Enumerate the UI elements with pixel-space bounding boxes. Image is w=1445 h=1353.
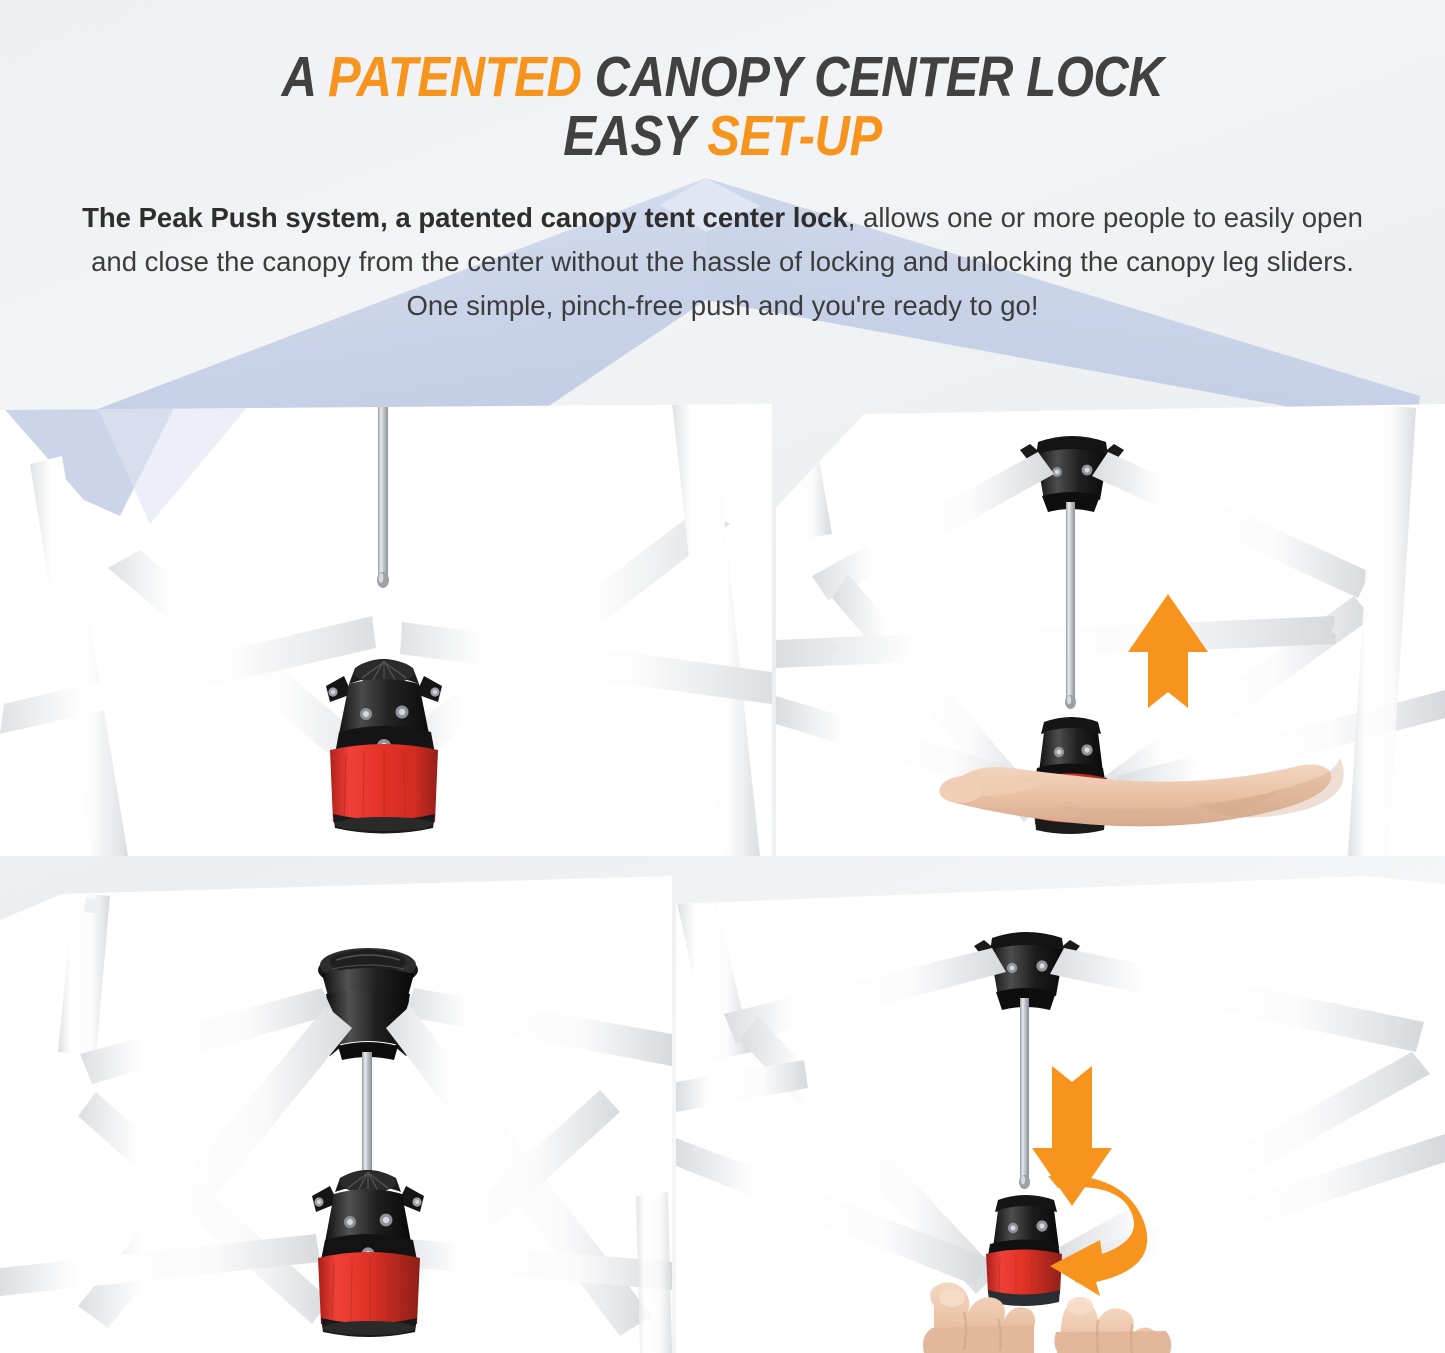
frame-truss-horizontal <box>776 616 1340 668</box>
black-hub-assembly <box>1035 717 1105 780</box>
body-copy: The Peak Push system, a patented canopy … <box>78 196 1368 328</box>
headline: A PATENTED CANOPY CENTER LOCK EASY SET-U… <box>101 48 1344 167</box>
steel-push-rod <box>362 1052 372 1196</box>
frame-truss-horizontal-middle <box>676 1134 1445 1286</box>
red-slider-base <box>318 1252 420 1337</box>
frame-truss-upper-right <box>386 508 730 770</box>
red-slider-base <box>986 1250 1062 1307</box>
red-slider-base <box>1033 774 1107 835</box>
black-peak-fitting <box>1020 436 1124 512</box>
open-palm-hand <box>940 758 1344 826</box>
frame-truss-horizontal-lower <box>776 690 1445 804</box>
frame-leg-pole-right-edge <box>1348 404 1416 856</box>
frame-truss-horizontal-upper <box>676 1054 1445 1112</box>
frame-truss-horizontal-left <box>0 1234 320 1296</box>
canopy-fabric-corner <box>0 404 176 516</box>
panel-bottom-left <box>0 876 672 1353</box>
frame-truss-down-left <box>78 1006 352 1328</box>
frame-truss-upper-right <box>404 988 672 1066</box>
down-arrow-icon <box>1032 1066 1112 1206</box>
headline-line1-part2: CANOPY CENTER LOCK <box>581 45 1163 109</box>
frame-truss-upper-left <box>108 550 392 784</box>
panel-top-right <box>776 404 1445 856</box>
frame-truss-upper-left <box>80 988 334 1084</box>
frame-truss-horizontal-right <box>392 1238 672 1290</box>
headline-line2-part1: EASY <box>563 104 707 168</box>
black-peak-cap <box>318 948 418 1060</box>
frame-leg-pole-left <box>58 892 110 1056</box>
frame-truss-upper-left <box>724 948 1006 1044</box>
frame-truss-lower-right <box>1054 1052 1430 1274</box>
frame-truss-lower-left <box>740 1016 998 1294</box>
frame-leg-pole-right <box>672 404 760 856</box>
two-hands-gripping <box>923 1282 1171 1353</box>
black-peak-fitting <box>974 932 1080 1010</box>
frame-truss-lower-right <box>1094 596 1372 806</box>
frame-truss-upper-right <box>1092 452 1370 598</box>
headline-line1-part1: A <box>282 45 328 109</box>
frame-truss-down-right <box>386 1006 652 1336</box>
frame-leg-pole-left <box>30 456 128 856</box>
frame-truss-horizontal-left <box>0 614 376 734</box>
frame-truss-cross-left <box>78 1092 330 1324</box>
steel-push-rod <box>377 404 389 588</box>
body-lead: The Peak Push system, a patented canopy … <box>82 202 848 233</box>
panel-top-left <box>0 404 772 856</box>
frame-truss-horizontal-right <box>400 622 772 704</box>
panel-bottom-right <box>676 876 1445 1353</box>
frame-leg-pole-right <box>1344 876 1418 1353</box>
up-arrow-icon <box>1128 594 1208 708</box>
frame-leg-pole-left <box>676 898 752 1060</box>
red-slider-base <box>330 744 438 834</box>
frame-truss-lower-left <box>832 574 1044 822</box>
black-hub-assembly <box>326 659 442 754</box>
steel-push-rod <box>1065 502 1076 709</box>
body-closing: One simple, pinch-free push and you're r… <box>78 284 1368 328</box>
frame-truss-upper-left <box>812 452 1054 600</box>
headline-line1-highlight: PATENTED <box>328 45 581 109</box>
black-hub-assembly <box>312 1170 424 1261</box>
frame-leg-pole-far-left <box>776 408 832 540</box>
frame-leg-pole-right <box>636 1192 672 1353</box>
frame-truss-lower-left <box>0 750 330 792</box>
rotate-arrow-icon <box>1048 1175 1147 1296</box>
headline-line2-highlight: SET-UP <box>707 104 881 168</box>
steel-push-rod <box>1019 998 1030 1189</box>
black-hub-assembly <box>988 1195 1060 1256</box>
frame-truss-cross-right <box>372 1090 620 1320</box>
frame-truss-upper-right <box>1050 948 1424 1052</box>
body-paragraph: The Peak Push system, a patented canopy … <box>78 196 1368 284</box>
